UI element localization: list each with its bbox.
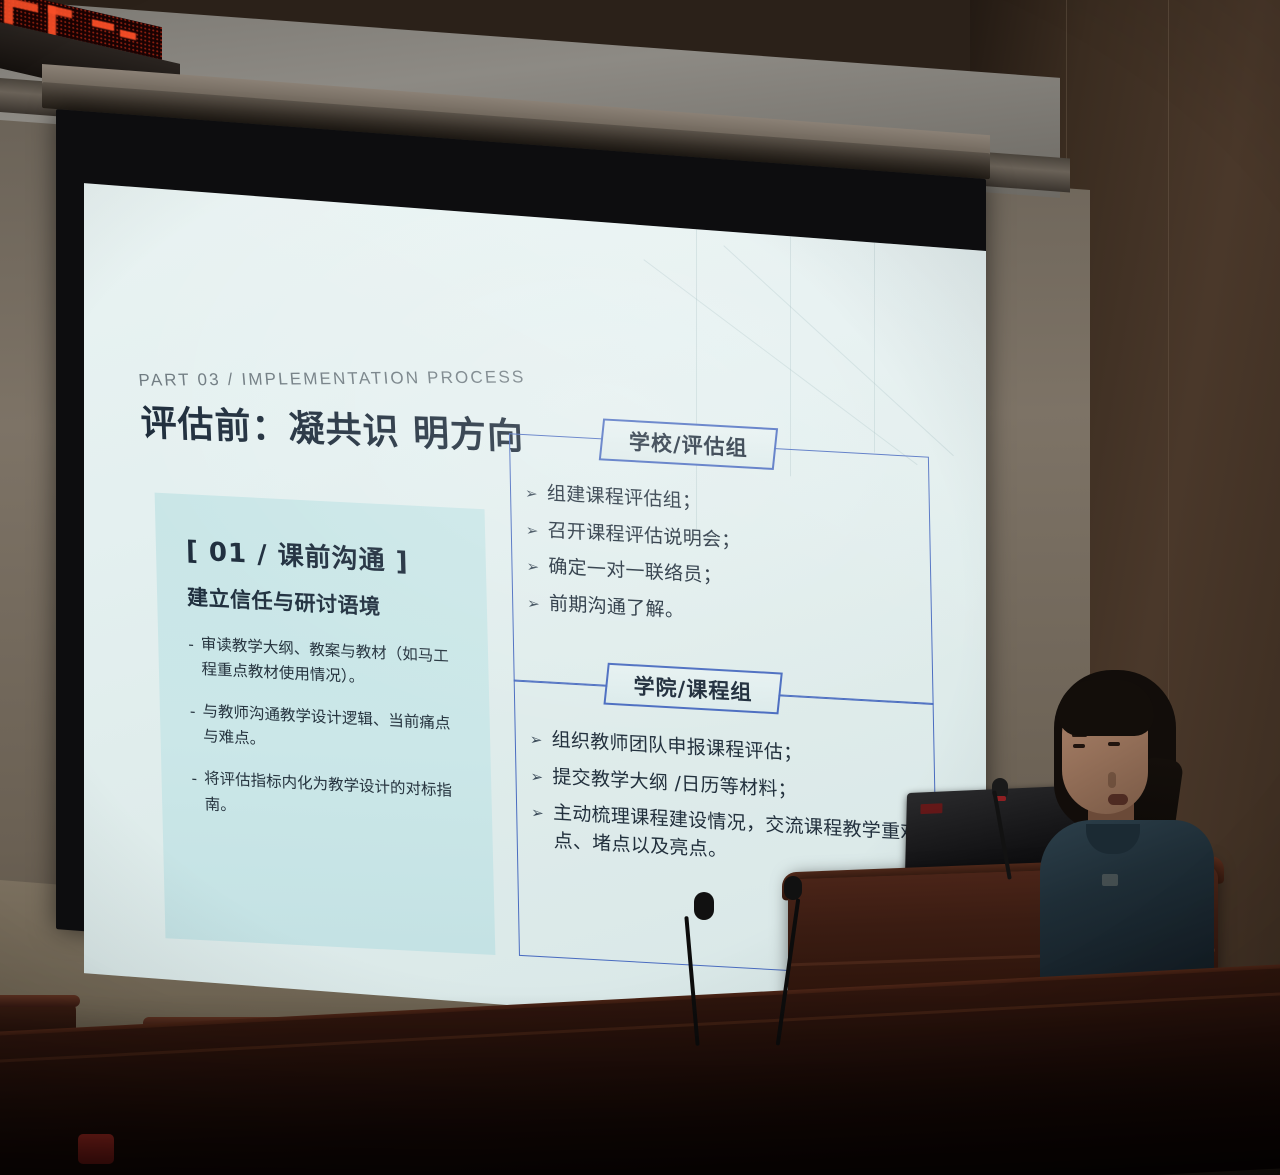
arrow-bullet-icon: ➢ <box>527 589 540 617</box>
presenter-nose <box>1108 772 1116 788</box>
slide-eyebrow: PART 03 / IMPLEMENTATION PROCESS <box>138 367 526 390</box>
desk-microphone-head <box>784 876 802 900</box>
seat-cap <box>0 995 80 1007</box>
red-object <box>78 1134 114 1164</box>
panel-bullet-list: ➢ 组建课程评估组； ➢ 召开课程评估说明会； ➢ 确定一对一联络员； <box>525 479 922 639</box>
slide-decoration-line <box>790 236 791 476</box>
projection-screen-frame: PART 03 / IMPLEMENTATION PROCESS 评估前：凝共识… <box>56 109 986 999</box>
left-card-subheading: 建立信任与研讨语境 <box>187 581 462 625</box>
list-item-text: 与教师沟通教学设计逻辑、当前痛点与难点。 <box>202 699 465 763</box>
left-card-bullet-list: - 审读教学大纲、教案与教材（如马工程重点教材使用情况）。 - 与教师沟通教学设… <box>188 631 466 830</box>
arrow-bullet-icon: ➢ <box>526 516 539 544</box>
slide-decoration-line <box>874 243 875 453</box>
arrow-bullet-icon: ➢ <box>530 762 543 790</box>
slide-decoration-line <box>723 245 953 456</box>
laptop-logo <box>920 803 942 814</box>
arrow-bullet-icon: ➢ <box>531 799 545 855</box>
arrow-bullet-icon: ➢ <box>525 479 538 507</box>
dash-marker-icon: - <box>188 631 195 682</box>
list-item: - 将评估指标内化为教学设计的对标指南。 <box>191 766 466 830</box>
panel-bullet-list: ➢ 组织教师团队申报课程评估； ➢ 提交教学大纲 /日历等材料； ➢ 主动梳理课… <box>530 725 926 876</box>
list-item: - 与教师沟通教学设计逻辑、当前痛点与难点。 <box>190 699 465 763</box>
dash-marker-icon: - <box>191 766 198 817</box>
presenter-eye <box>1073 744 1085 748</box>
list-item-text: 审读教学大纲、教案与教材（如马工程重点教材使用情况）。 <box>201 632 464 696</box>
panel-body: ➢ 组建课程评估组； ➢ 召开课程评估说明会； ➢ 确定一对一联络员； <box>509 433 934 705</box>
panel-tab-label: 学校/评估组 <box>629 426 748 463</box>
panel-tab-label: 学院/课程组 <box>633 670 752 707</box>
left-card-heading: [ 01 / 课前沟通 ] <box>185 530 460 581</box>
list-item: - 审读教学大纲、教案与教材（如马工程重点教材使用情况）。 <box>188 631 463 695</box>
presenter-badge <box>1102 874 1118 886</box>
arrow-bullet-icon: ➢ <box>530 725 543 753</box>
list-item-text: 主动梳理课程建设情况，交流课程教学重难点、堵点以及亮点。 <box>553 800 926 876</box>
left-content-card: [ 01 / 课前沟通 ] 建立信任与研讨语境 - 审读教学大纲、教案与教材（如… <box>155 493 496 955</box>
slide-title-block: PART 03 / IMPLEMENTATION PROCESS 评估前：凝共识… <box>139 371 530 460</box>
page-title: 评估前：凝共识 明方向 <box>140 394 530 460</box>
presenter-mouth <box>1108 794 1128 805</box>
desk-microphone-head <box>694 892 714 920</box>
dash-marker-icon: - <box>190 699 197 750</box>
list-item-text: 将评估指标内化为教学设计的对标指南。 <box>204 767 467 831</box>
presenter-hair-front <box>1058 680 1154 736</box>
presenter-eye <box>1108 742 1120 746</box>
list-item: ➢ 主动梳理课程建设情况，交流课程教学重难点、堵点以及亮点。 <box>531 799 926 877</box>
presenter <box>1028 662 1238 962</box>
arrow-bullet-icon: ➢ <box>526 553 539 581</box>
panel-school-evaluation-group: 学校/评估组 ➢ 组建课程评估组； ➢ 召开课程评估说明会； <box>509 433 934 705</box>
conference-room-scene: PART 03 / IMPLEMENTATION PROCESS 评估前：凝共识… <box>0 0 1280 1175</box>
